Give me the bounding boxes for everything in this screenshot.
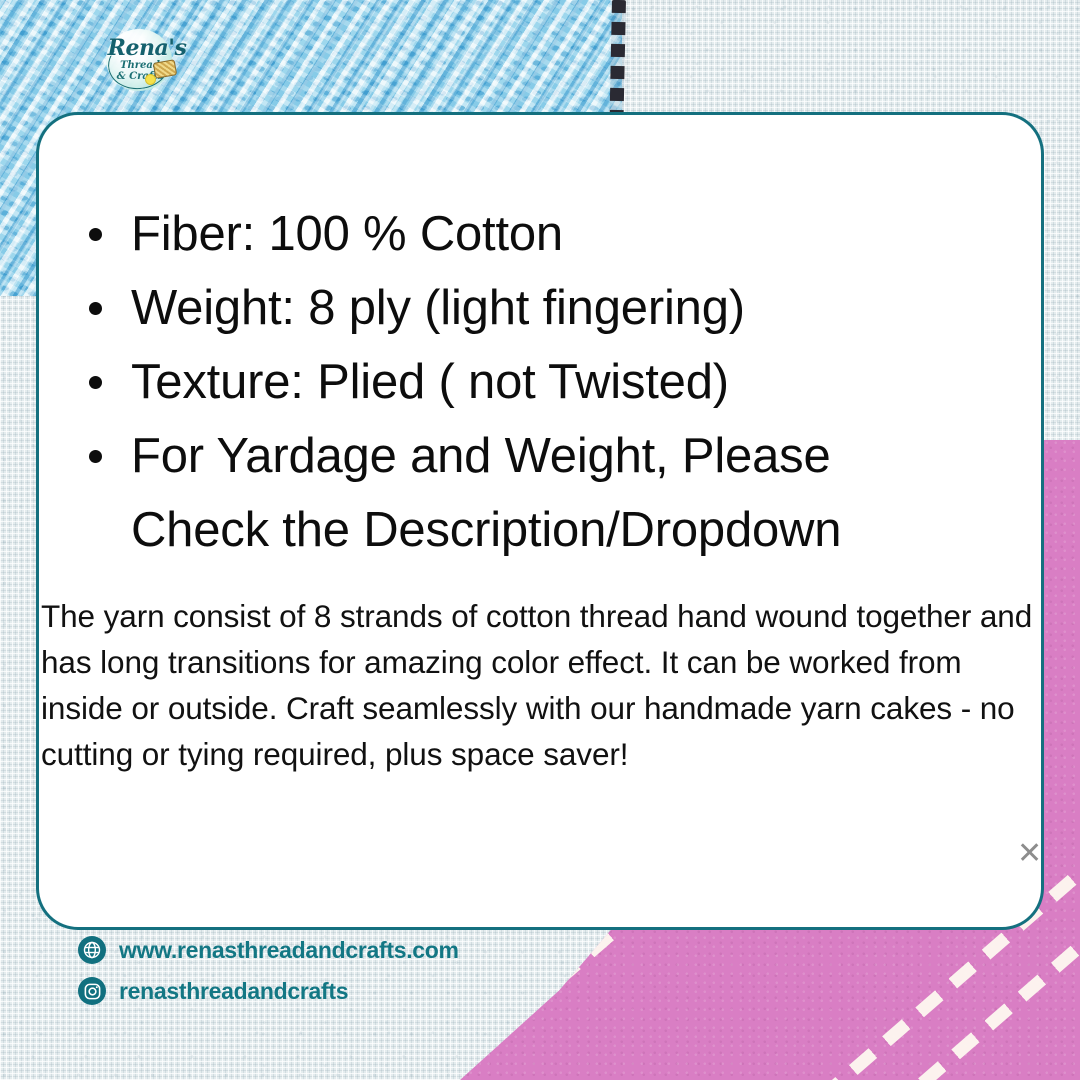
close-icon[interactable]: ✕ [1017, 841, 1043, 867]
bullet-icon [89, 450, 102, 463]
instagram-handle[interactable]: renasthreadandcrafts [119, 978, 348, 1005]
product-info-card: Fiber: 100 % Cotton Weight: 8 ply (light… [36, 112, 1044, 930]
brand-logo: Rena's Thread & Crafts [96, 27, 182, 93]
list-item: For Yardage and Weight, Please Check the… [39, 419, 1041, 567]
spec-text: For Yardage and Weight, Please [131, 429, 831, 483]
bullet-icon [89, 376, 102, 389]
bullet-icon [89, 228, 102, 241]
spec-list: Fiber: 100 % Cotton Weight: 8 ply (light… [39, 197, 1041, 567]
product-description: The yarn consist of 8 strands of cotton … [39, 593, 1041, 777]
list-item: Weight: 8 ply (light fingering) [39, 271, 1041, 345]
globe-icon [78, 936, 106, 964]
website-row[interactable]: www.renasthreadandcrafts.com [78, 936, 459, 964]
logo-brand-name: Rena's [104, 35, 190, 61]
yarn-ball-icon [145, 74, 156, 85]
footer-contact: www.renasthreadandcrafts.com renasthread… [78, 936, 459, 1018]
spec-text: Fiber: 100 % Cotton [131, 207, 563, 261]
instagram-row[interactable]: renasthreadandcrafts [78, 977, 459, 1005]
list-item: Texture: Plied ( not Twisted) [39, 345, 1041, 419]
spec-text-line2: Check the Description/Dropdown [131, 493, 1041, 567]
website-url[interactable]: www.renasthreadandcrafts.com [119, 937, 459, 964]
spec-text: Texture: Plied ( not Twisted) [131, 355, 729, 409]
bullet-icon [89, 302, 102, 315]
instagram-icon [78, 977, 106, 1005]
list-item: Fiber: 100 % Cotton [39, 197, 1041, 271]
spec-text: Weight: 8 ply (light fingering) [131, 281, 745, 335]
